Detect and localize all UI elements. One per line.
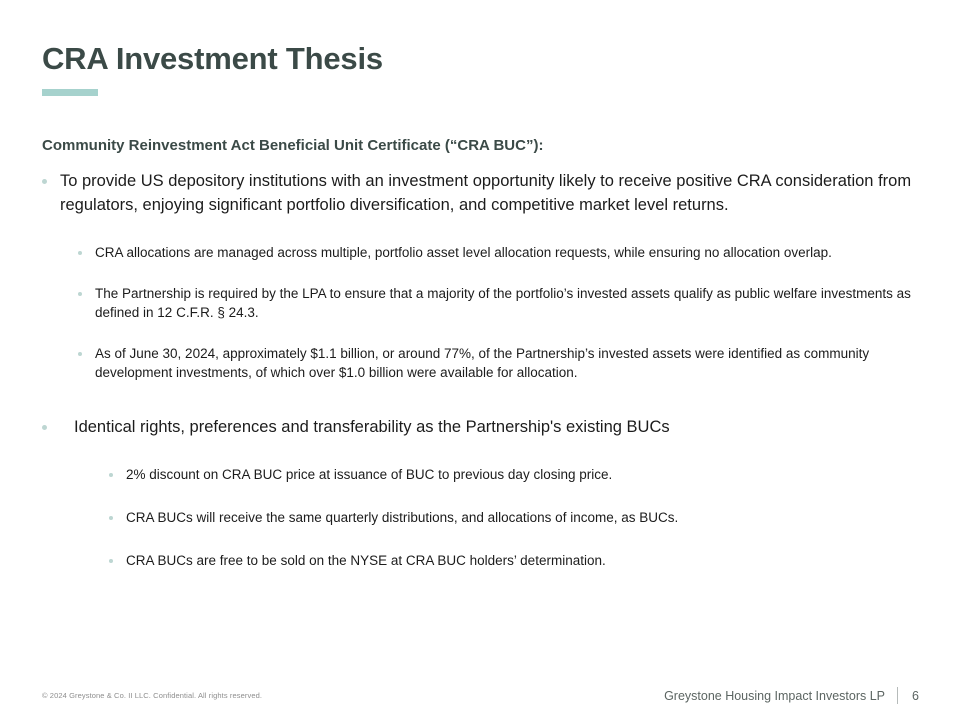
page-title: CRA Investment Thesis	[42, 40, 922, 78]
bullet-text: CRA BUCs are free to be sold on the NYSE…	[126, 551, 932, 570]
bullet-item-level2: CRA allocations are managed across multi…	[78, 243, 932, 262]
bullet-dot-icon	[42, 179, 47, 184]
bullet-dot-icon	[42, 425, 47, 430]
section-subheading: Community Reinvestment Act Beneficial Un…	[42, 136, 932, 156]
slide: CRA Investment Thesis Community Reinvest…	[0, 0, 960, 720]
bullet-text: Identical rights, preferences and transf…	[74, 415, 932, 439]
bullet-item-level2: The Partnership is required by the LPA t…	[78, 284, 932, 322]
bullet-text: 2% discount on CRA BUC price at issuance…	[126, 465, 932, 484]
bullet-item-level1: Identical rights, preferences and transf…	[42, 415, 932, 439]
bullet-text: As of June 30, 2024, approximately $1.1 …	[95, 344, 932, 382]
footer-divider	[897, 687, 898, 704]
slide-body: Community Reinvestment Act Beneficial Un…	[42, 136, 932, 570]
bullet-text: CRA BUCs will receive the same quarterly…	[126, 508, 932, 527]
bullet-dot-icon	[78, 292, 82, 296]
bullet-dot-icon	[109, 473, 113, 477]
bullet-text: The Partnership is required by the LPA t…	[95, 284, 932, 322]
bullet-item-level1: To provide US depository institutions wi…	[42, 169, 932, 217]
bullet-text: CRA allocations are managed across multi…	[95, 243, 932, 262]
bullet-dot-icon	[109, 516, 113, 520]
footer-branding: Greystone Housing Impact Investors LP 6	[664, 687, 922, 704]
bullet-dot-icon	[78, 251, 82, 255]
bullet-item-level2: 2% discount on CRA BUC price at issuance…	[109, 465, 932, 484]
footer-copyright: © 2024 Greystone & Co. II LLC. Confident…	[42, 690, 262, 701]
title-block: CRA Investment Thesis	[42, 40, 922, 96]
sub-bullet-list: 2% discount on CRA BUC price at issuance…	[73, 465, 932, 570]
bullet-dot-icon	[78, 352, 82, 356]
bullet-dot-icon	[109, 559, 113, 563]
bullet-text: To provide US depository institutions wi…	[60, 169, 932, 217]
page-number: 6	[912, 688, 922, 704]
bullet-group-cra-buc: To provide US depository institutions wi…	[42, 169, 932, 382]
bullet-item-level2: CRA BUCs are free to be sold on the NYSE…	[109, 551, 932, 570]
bullet-group-identical-rights: Identical rights, preferences and transf…	[42, 415, 932, 570]
footer-company-name: Greystone Housing Impact Investors LP	[664, 688, 885, 704]
bullet-item-level2: CRA BUCs will receive the same quarterly…	[109, 508, 932, 527]
sub-bullet-list: CRA allocations are managed across multi…	[42, 243, 932, 382]
bullet-item-level2: As of June 30, 2024, approximately $1.1 …	[78, 344, 932, 382]
title-accent-rule	[42, 89, 98, 96]
